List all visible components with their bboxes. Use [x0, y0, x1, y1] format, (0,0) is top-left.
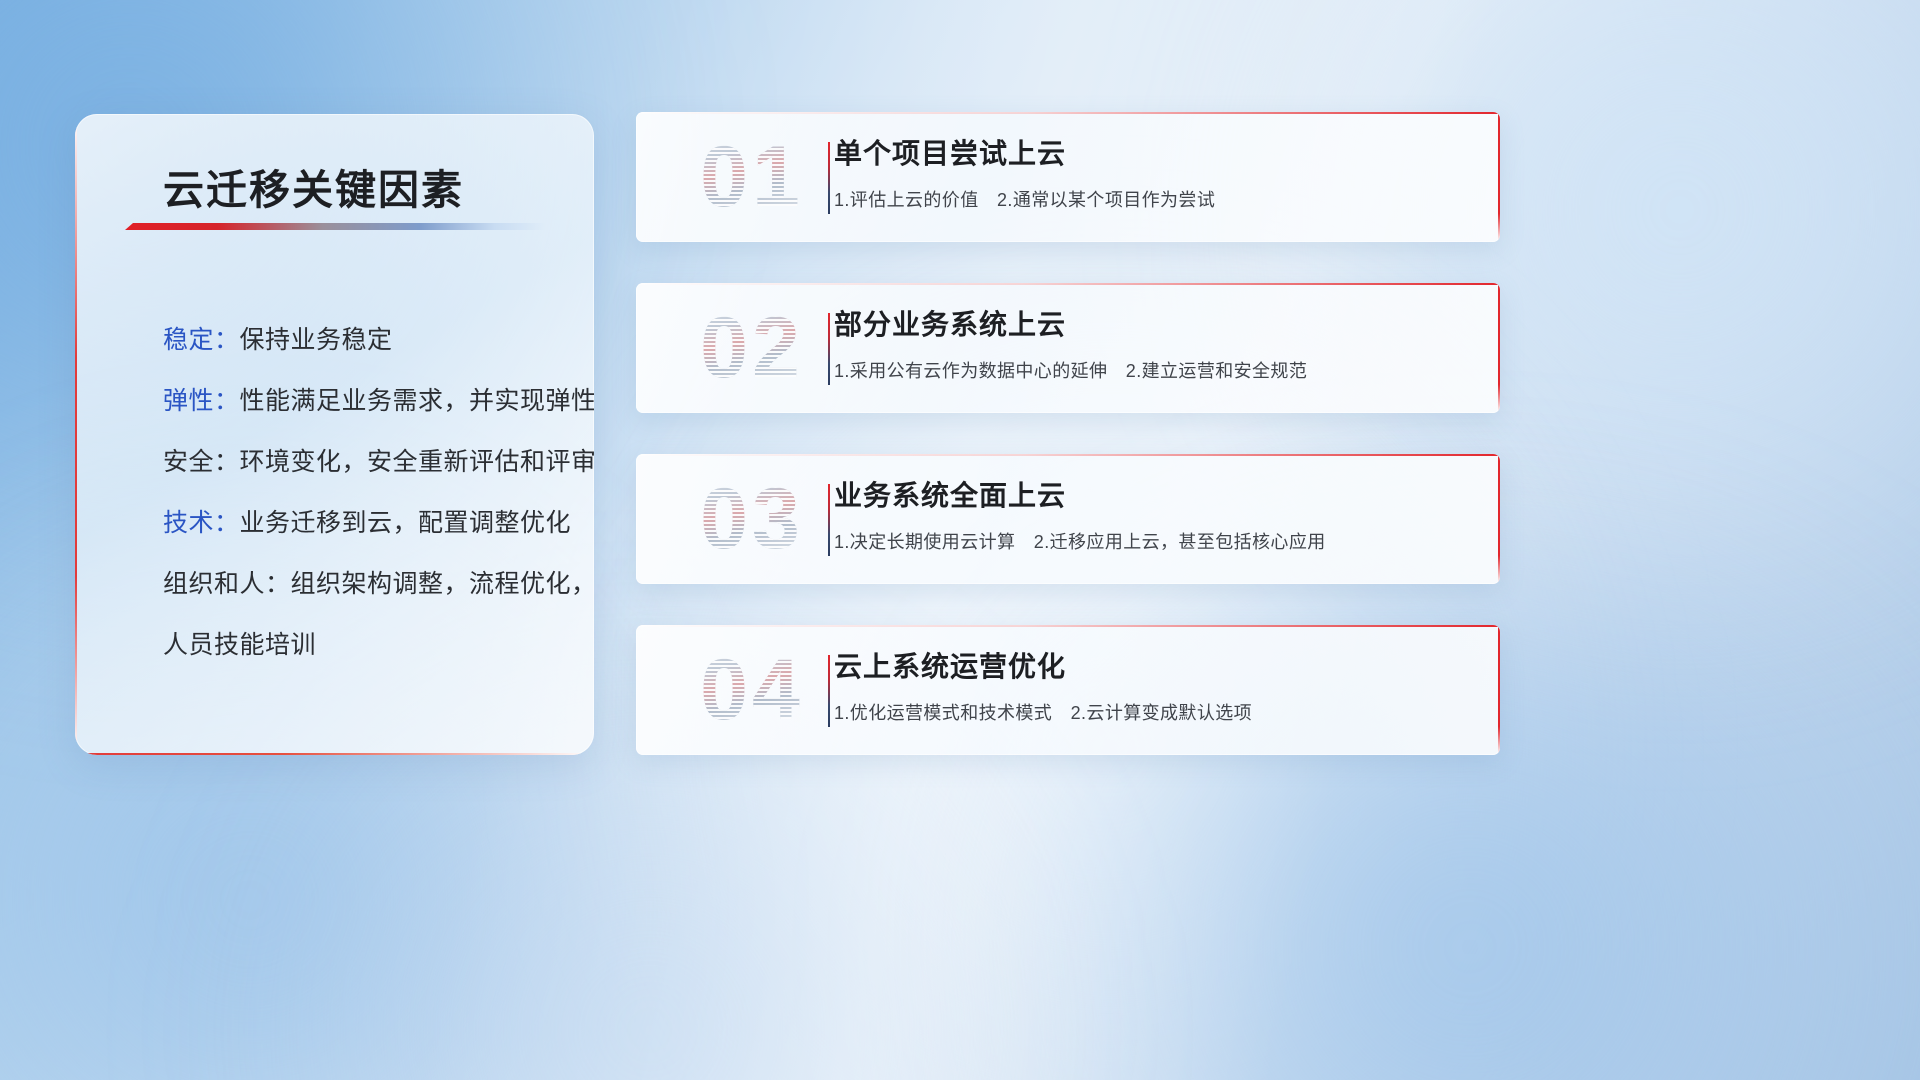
factor-row: 稳定：保持业务稳定	[163, 310, 568, 371]
key-factors-panel: 云迁移关键因素 稳定：保持业务稳定弹性：性能满足业务需求，并实现弹性安全：环境变…	[75, 114, 594, 755]
step-number: 02	[662, 295, 842, 401]
step-card-04[interactable]: 04云上系统运营优化1.优化运营模式和技术模式 2.云计算变成默认选项	[636, 625, 1500, 755]
step-divider-bar	[828, 313, 830, 385]
step-divider-bar	[828, 142, 830, 214]
step-card-02[interactable]: 02部分业务系统上云1.采用公有云作为数据中心的延伸 2.建立运营和安全规范	[636, 283, 1500, 413]
step-card-01[interactable]: 01单个项目尝试上云1.评估上云的价值 2.通常以某个项目作为尝试	[636, 112, 1500, 242]
page-title: 云迁移关键因素	[163, 156, 464, 216]
step-number: 01	[662, 124, 842, 230]
step-divider-bar	[828, 484, 830, 556]
factor-value: 组织架构调整，流程优化，	[291, 570, 594, 598]
step-title: 单个项目尝试上云	[834, 132, 1474, 172]
factor-value: 环境变化，安全重新评估和评审	[240, 448, 594, 476]
step-body: 业务系统全面上云1.决定长期使用云计算 2.迁移应用上云，甚至包括核心应用	[834, 474, 1474, 554]
step-card-03[interactable]: 03业务系统全面上云1.决定长期使用云计算 2.迁移应用上云，甚至包括核心应用	[636, 454, 1500, 584]
factor-value: 业务迁移到云，配置调整优化	[240, 509, 572, 537]
factor-continuation: 人员技能培训	[163, 615, 568, 676]
step-title: 部分业务系统上云	[834, 303, 1474, 343]
step-title: 业务系统全面上云	[834, 474, 1474, 514]
step-body: 部分业务系统上云1.采用公有云作为数据中心的延伸 2.建立运营和安全规范	[834, 303, 1474, 383]
factor-value: 性能满足业务需求，并实现弹性	[240, 387, 594, 415]
factor-row: 安全：环境变化，安全重新评估和评审	[163, 432, 568, 493]
factor-row: 组织和人：组织架构调整，流程优化，	[163, 554, 568, 615]
step-number: 04	[662, 637, 842, 743]
factor-label: 技术：	[163, 509, 240, 537]
key-factors-list: 稳定：保持业务稳定弹性：性能满足业务需求，并实现弹性安全：环境变化，安全重新评估…	[163, 310, 568, 676]
step-description: 1.决定长期使用云计算 2.迁移应用上云，甚至包括核心应用	[834, 528, 1474, 554]
step-description: 1.采用公有云作为数据中心的延伸 2.建立运营和安全规范	[834, 357, 1474, 383]
factor-label: 稳定：	[163, 326, 240, 354]
step-divider-bar	[828, 655, 830, 727]
step-title: 云上系统运营优化	[834, 645, 1474, 685]
step-description: 1.优化运营模式和技术模式 2.云计算变成默认选项	[834, 699, 1474, 725]
factor-value: 保持业务稳定	[240, 326, 393, 354]
factor-label: 安全：	[163, 448, 240, 476]
step-number: 03	[662, 466, 842, 572]
step-body: 单个项目尝试上云1.评估上云的价值 2.通常以某个项目作为尝试	[834, 132, 1474, 212]
step-body: 云上系统运营优化1.优化运营模式和技术模式 2.云计算变成默认选项	[834, 645, 1474, 725]
factor-row: 弹性：性能满足业务需求，并实现弹性	[163, 371, 568, 432]
factor-label: 组织和人：	[163, 570, 291, 598]
factor-label: 弹性：	[163, 387, 240, 415]
title-underline-rule	[125, 223, 545, 230]
step-description: 1.评估上云的价值 2.通常以某个项目作为尝试	[834, 186, 1474, 212]
factor-row: 技术：业务迁移到云，配置调整优化	[163, 493, 568, 554]
migration-steps-list: 01单个项目尝试上云1.评估上云的价值 2.通常以某个项目作为尝试02部分业务系…	[636, 112, 1500, 796]
